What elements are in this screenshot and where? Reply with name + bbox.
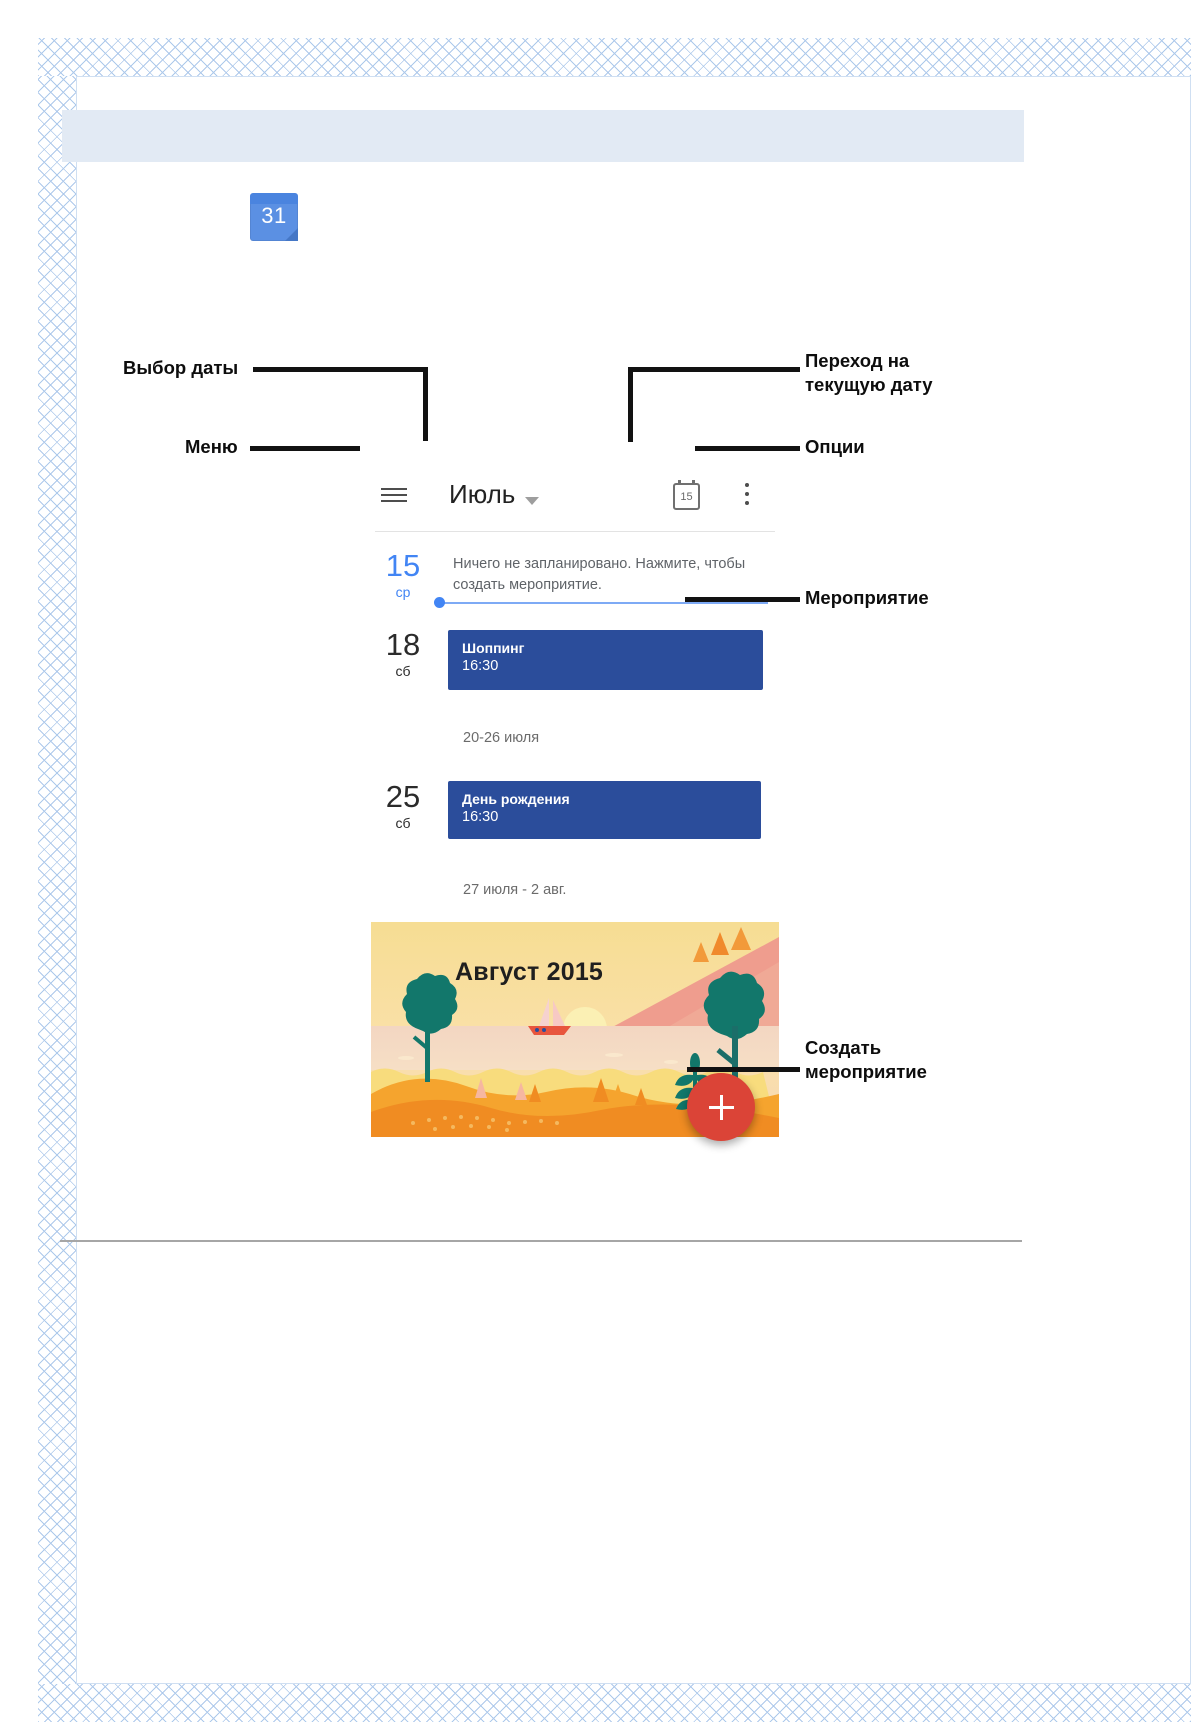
day-label: 18 сб: [375, 628, 431, 680]
callout-menu-leader: [250, 446, 360, 451]
callout-options-label: Опции: [805, 435, 865, 459]
month-title[interactable]: Июль: [449, 479, 515, 510]
no-events-text[interactable]: Ничего не запланировано. Нажмите, чтобы …: [453, 554, 783, 596]
week-range-label: 20-26 июля: [463, 730, 539, 746]
week-range-label: 27 июля - 2 авг.: [463, 882, 566, 898]
callout-event-leader: [685, 597, 800, 602]
chevron-down-icon[interactable]: [525, 497, 539, 505]
callout-go-to-today-label: Переход на текущую дату: [805, 349, 933, 397]
day-weekday: сб: [375, 662, 431, 680]
calendar-app-screenshot: Июль 15 15 ср Ничего не запланировано. Н…: [313, 425, 713, 1165]
page-content: 31 Июль 15 15 ср Ничего не запланировано…: [60, 60, 1131, 1624]
event-block[interactable]: Шоппинг 16:30: [448, 630, 763, 690]
callout-go-to-today-leader: [630, 367, 800, 372]
event-title: День рождения: [462, 790, 761, 808]
callout-date-picker-leader: [423, 367, 428, 441]
event-block[interactable]: День рождения 16:30: [448, 781, 761, 839]
callout-date-picker-leader: [253, 367, 428, 372]
event-title: Шоппинг: [462, 639, 763, 657]
page-border-bottom: [38, 1684, 1191, 1722]
calendar-icon-number: 31: [250, 203, 298, 229]
day-number: 15: [375, 549, 431, 583]
day-label: 15 ср: [375, 549, 431, 601]
options-icon[interactable]: [745, 483, 750, 508]
callout-menu-label: Меню: [185, 435, 238, 459]
app-bar-divider: [375, 531, 775, 532]
callout-create-event-leader: [687, 1067, 800, 1072]
event-time: 16:30: [462, 808, 761, 827]
header-band: [62, 110, 1024, 162]
today-indicator-dot: [434, 597, 445, 608]
callout-options-leader: [695, 446, 800, 451]
day-weekday: сб: [375, 814, 431, 832]
callout-event-label: Мероприятие: [805, 586, 929, 610]
go-to-today-icon[interactable]: 15: [673, 483, 700, 510]
callout-date-picker-label: Выбор даты: [123, 356, 238, 380]
today-indicator-line: [443, 602, 768, 604]
footer-rule: [60, 1240, 1022, 1242]
plus-icon: [709, 1106, 734, 1109]
calendar-app-icon: 31: [250, 193, 298, 241]
menu-icon[interactable]: [381, 488, 407, 503]
go-to-today-number: 15: [675, 491, 698, 503]
day-label: 25 сб: [375, 780, 431, 832]
callout-create-event-label: Создать мероприятие: [805, 1036, 927, 1084]
day-number: 25: [375, 780, 431, 814]
create-event-fab[interactable]: [687, 1073, 755, 1141]
day-weekday: ср: [375, 583, 431, 601]
day-number: 18: [375, 628, 431, 662]
banner-month-title: Август 2015: [455, 958, 603, 987]
callout-go-to-today-leader: [628, 367, 633, 442]
event-time: 16:30: [462, 657, 763, 676]
